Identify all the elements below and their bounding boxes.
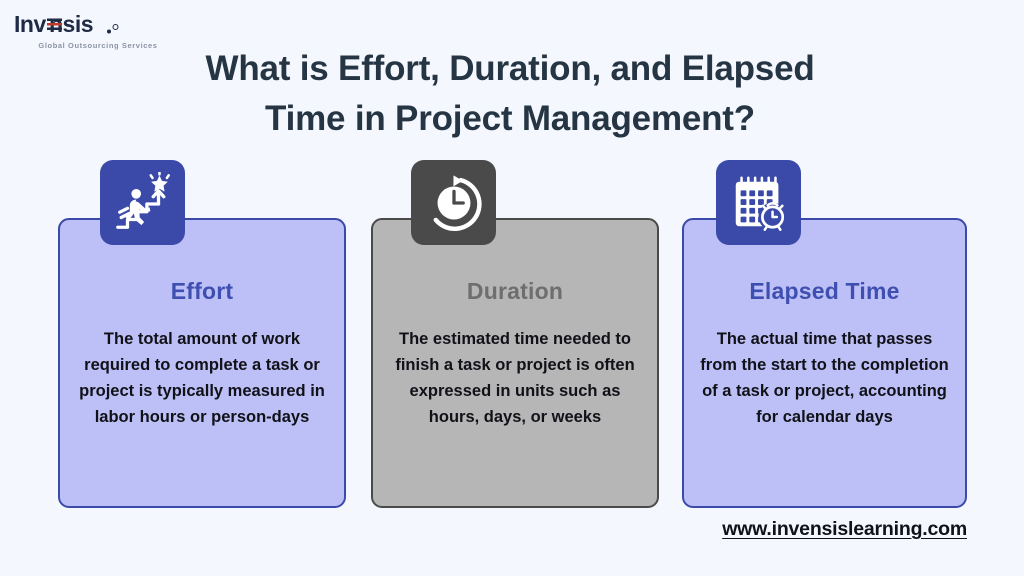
- elapsed-time-icon-tile: [716, 160, 801, 245]
- website-link[interactable]: www.invensislearning.com: [722, 518, 967, 541]
- card-effort: Effort The total amount of work required…: [58, 218, 346, 508]
- card-duration-title: Duration: [467, 278, 563, 305]
- duration-icon-tile: [411, 160, 496, 245]
- page-title: What is Effort, Duration, and Elapsed Ti…: [130, 44, 890, 143]
- infographic-page: Inv nsis Global Outsourcing Services Wha…: [0, 0, 1024, 576]
- person-climbing-stairs-to-star-icon: [112, 172, 174, 234]
- svg-text:Inv: Inv: [14, 12, 46, 37]
- calendar-with-alarm-clock-icon: [728, 172, 790, 234]
- card-duration: Duration The estimated time needed to fi…: [371, 218, 659, 508]
- concept-card-row: Effort The total amount of work required…: [0, 218, 1024, 510]
- invensis-wordmark-icon: Inv nsis: [14, 12, 164, 40]
- page-title-line-2: Time in Project Management?: [130, 94, 890, 144]
- card-elapsed-time-body: The actual time that passes from the sta…: [684, 326, 965, 430]
- card-effort-body: The total amount of work required to com…: [60, 326, 344, 430]
- page-title-line-1: What is Effort, Duration, and Elapsed: [130, 44, 890, 94]
- card-elapsed-time: Elapsed Time The actual time that passes…: [682, 218, 967, 508]
- card-effort-title: Effort: [171, 278, 234, 305]
- effort-icon-tile: [100, 160, 185, 245]
- card-duration-body: The estimated time needed to finish a ta…: [373, 326, 657, 430]
- card-elapsed-time-title: Elapsed Time: [749, 278, 899, 305]
- clock-with-circular-arrow-icon: [423, 172, 485, 234]
